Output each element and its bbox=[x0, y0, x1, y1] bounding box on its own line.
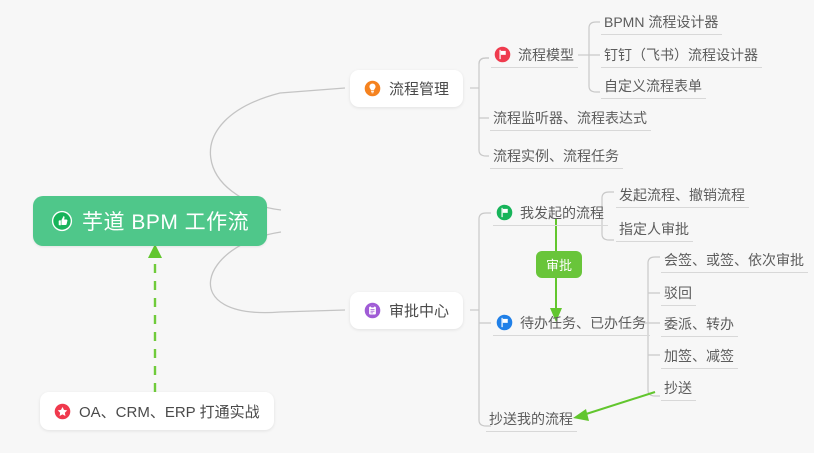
annotation-integration-note-label: OA、CRM、ERP 打通实战 bbox=[79, 401, 260, 422]
node-cc-to-me-process[interactable]: 抄送我的流程 bbox=[486, 406, 577, 432]
node-cc-to-me-process-label: 抄送我的流程 bbox=[489, 409, 573, 429]
node-carbon-copy[interactable]: 抄送 bbox=[661, 375, 696, 401]
node-dingtalk-feishu-designer-label: 钉钉（飞书）流程设计器 bbox=[604, 45, 758, 65]
connector-pm-to-model bbox=[479, 58, 489, 64]
node-my-started-process[interactable]: 我发起的流程 bbox=[493, 200, 608, 226]
node-reject-label: 驳回 bbox=[664, 283, 692, 303]
node-reject[interactable]: 驳回 bbox=[661, 280, 696, 306]
node-assignee-approval[interactable]: 指定人审批 bbox=[616, 216, 693, 242]
arrow-cc-to-ccmine-line bbox=[583, 392, 655, 415]
node-dingtalk-feishu-designer[interactable]: 钉钉（飞书）流程设计器 bbox=[601, 42, 762, 68]
node-instance-task[interactable]: 流程实例、流程任务 bbox=[490, 143, 623, 169]
dashed-arrow-integration-head bbox=[148, 244, 162, 258]
node-start-cancel-process[interactable]: 发起流程、撤销流程 bbox=[616, 182, 749, 208]
node-approval-center-label: 审批中心 bbox=[389, 300, 449, 321]
node-listener-expression-label: 流程监听器、流程表达式 bbox=[493, 108, 647, 128]
connector-pm-bracket bbox=[479, 58, 489, 156]
star-circle-icon bbox=[54, 403, 71, 420]
node-process-model[interactable]: 流程模型 bbox=[491, 42, 578, 68]
connector-model-bracket bbox=[589, 22, 600, 92]
node-process-management-label: 流程管理 bbox=[389, 78, 449, 99]
node-process-management[interactable]: 流程管理 bbox=[350, 70, 463, 107]
annotation-approval-chip[interactable]: 审批 bbox=[536, 251, 582, 278]
node-start-cancel-process-label: 发起流程、撤销流程 bbox=[619, 185, 745, 205]
node-approval-center[interactable]: 审批中心 bbox=[350, 292, 463, 329]
flag-circle-green-icon bbox=[496, 204, 513, 221]
node-countersign-modes-label: 会签、或签、依次审批 bbox=[664, 250, 804, 270]
node-listener-expression[interactable]: 流程监听器、流程表达式 bbox=[490, 105, 651, 131]
node-countersign-modes[interactable]: 会签、或签、依次审批 bbox=[661, 247, 808, 273]
node-todo-done-task[interactable]: 待办任务、已办任务 bbox=[493, 310, 650, 336]
flag-circle-red-icon bbox=[494, 46, 511, 63]
node-add-remove-sign[interactable]: 加签、减签 bbox=[661, 343, 738, 369]
node-add-remove-sign-label: 加签、减签 bbox=[664, 346, 734, 366]
node-delegate-transfer-label: 委派、转办 bbox=[664, 314, 734, 334]
node-instance-task-label: 流程实例、流程任务 bbox=[493, 146, 619, 166]
connector-root-to-process-management bbox=[210, 88, 345, 210]
node-bpmn-designer[interactable]: BPMN 流程设计器 bbox=[601, 9, 722, 35]
connector-ac-bracket bbox=[479, 213, 491, 426]
node-assignee-approval-label: 指定人审批 bbox=[619, 219, 689, 239]
node-todo-done-task-label: 待办任务、已办任务 bbox=[520, 313, 646, 333]
clipboard-circle-icon bbox=[364, 302, 381, 319]
lightbulb-circle-icon bbox=[364, 80, 381, 97]
node-custom-process-form[interactable]: 自定义流程表单 bbox=[601, 73, 706, 99]
annotation-integration-note[interactable]: OA、CRM、ERP 打通实战 bbox=[40, 392, 274, 430]
root-node-label: 芋道 BPM 工作流 bbox=[82, 206, 249, 236]
annotation-approval-chip-label: 审批 bbox=[546, 255, 572, 274]
root-node[interactable]: 芋道 BPM 工作流 bbox=[33, 196, 267, 246]
node-delegate-transfer[interactable]: 委派、转办 bbox=[661, 311, 738, 337]
node-bpmn-designer-label: BPMN 流程设计器 bbox=[604, 12, 718, 32]
node-carbon-copy-label: 抄送 bbox=[664, 378, 692, 398]
node-my-started-process-label: 我发起的流程 bbox=[520, 203, 604, 223]
node-process-model-label: 流程模型 bbox=[518, 45, 574, 65]
node-custom-process-form-label: 自定义流程表单 bbox=[604, 76, 702, 96]
flag-circle-blue-icon bbox=[496, 314, 513, 331]
mindmap-canvas: 芋道 BPM 工作流 流程管理 流程模型 BPMN 流程设计器 钉钉（飞书）流 bbox=[0, 0, 814, 453]
thumbs-up-circle-icon bbox=[51, 210, 73, 232]
